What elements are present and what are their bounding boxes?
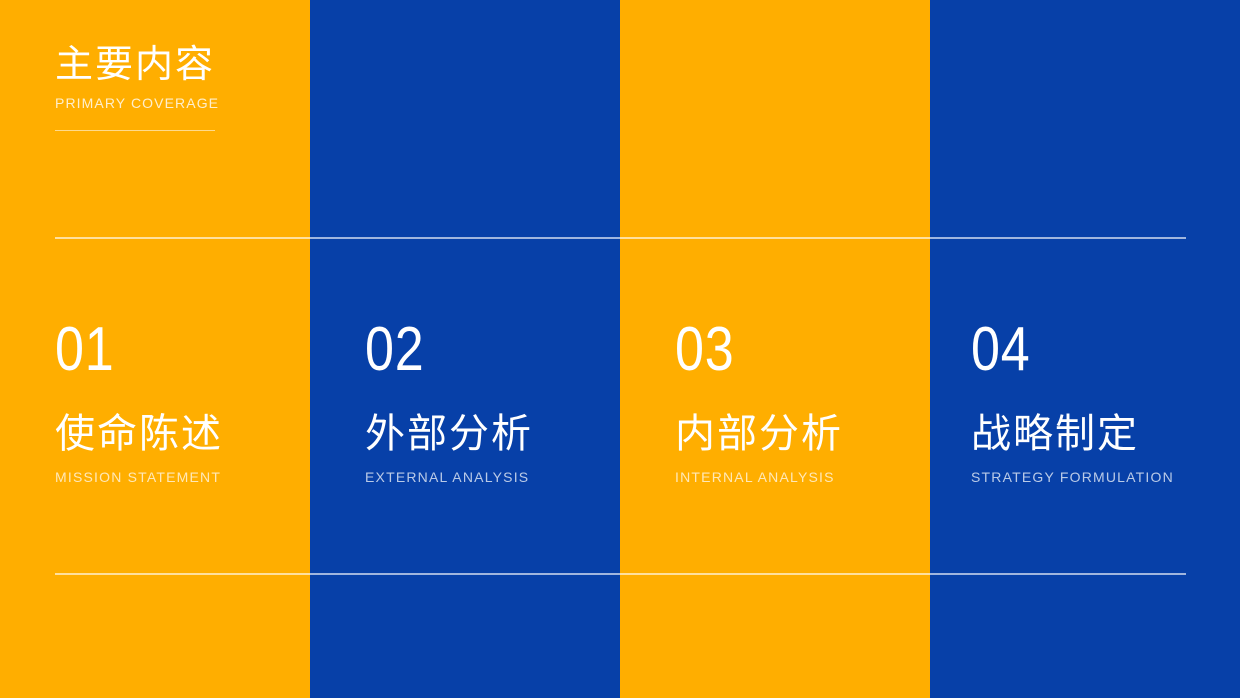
agenda-item-title-en: STRATEGY FORMULATION <box>971 468 1240 486</box>
agenda-item-number: 03 <box>675 318 927 382</box>
divider-bottom <box>55 573 1186 575</box>
agenda-item-number: 02 <box>365 318 617 382</box>
agenda-item-title-zh: 战略制定 <box>971 410 1240 458</box>
agenda-item-title-zh: 内部分析 <box>675 410 975 458</box>
divider-top <box>55 237 1186 239</box>
agenda-item-01[interactable]: 01 使命陈述 MISSION STATEMENT <box>55 318 355 486</box>
agenda-item-number: 04 <box>971 318 1223 382</box>
agenda-item-04[interactable]: 04 战略制定 STRATEGY FORMULATION <box>971 318 1240 486</box>
agenda-item-03[interactable]: 03 内部分析 INTERNAL ANALYSIS <box>675 318 975 486</box>
agenda-item-title-en: INTERNAL ANALYSIS <box>675 468 975 486</box>
slide-canvas: 主要内容 PRIMARY COVERAGE 01 使命陈述 MISSION ST… <box>0 0 1240 698</box>
agenda-item-02[interactable]: 02 外部分析 EXTERNAL ANALYSIS <box>365 318 665 486</box>
agenda-list: 01 使命陈述 MISSION STATEMENT 02 外部分析 EXTERN… <box>0 0 1240 698</box>
agenda-item-number: 01 <box>55 318 307 382</box>
agenda-item-title-en: EXTERNAL ANALYSIS <box>365 468 665 486</box>
agenda-item-title-en: MISSION STATEMENT <box>55 468 355 486</box>
agenda-item-title-zh: 外部分析 <box>365 410 665 458</box>
agenda-item-title-zh: 使命陈述 <box>55 410 355 458</box>
